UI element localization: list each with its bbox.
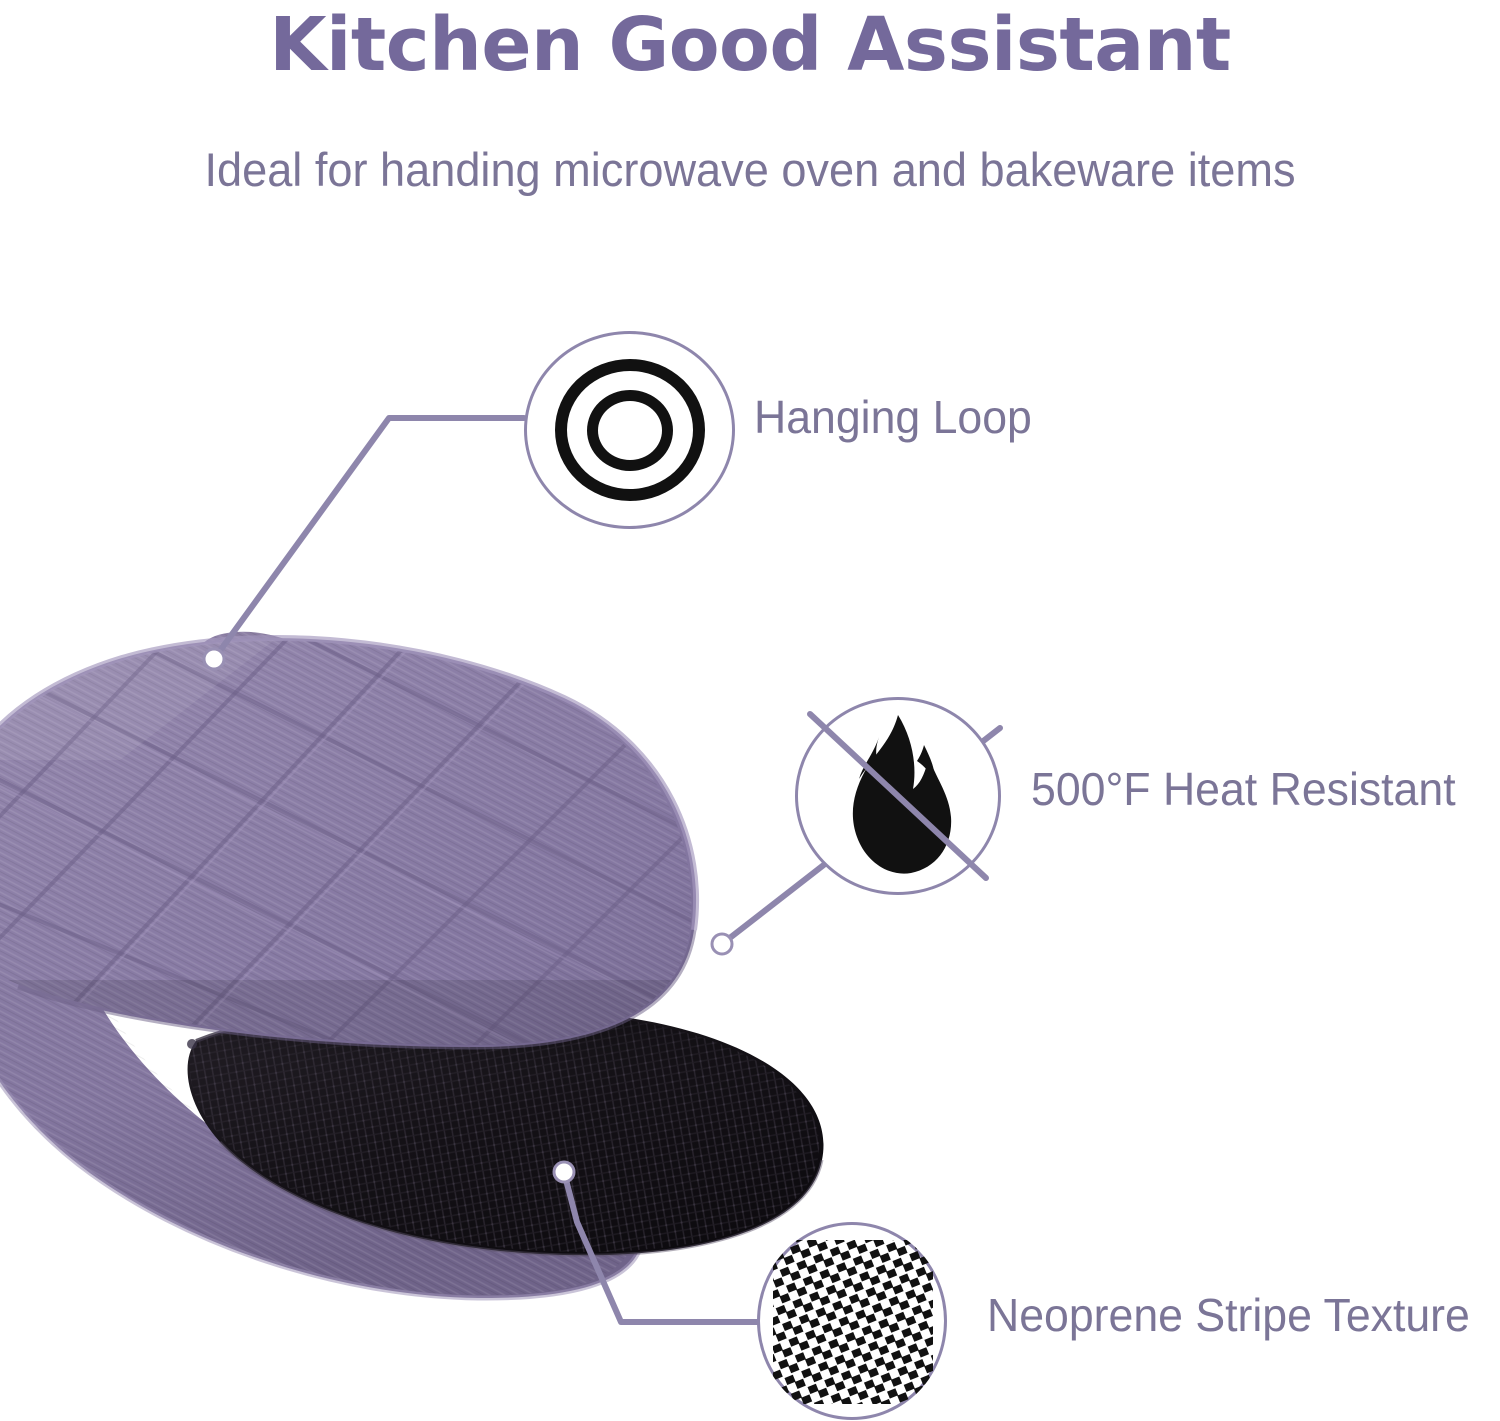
- mitt-shell: [0, 620, 760, 1080]
- product-infographic: Kitchen Good Assistant Ideal for handing…: [0, 0, 1500, 1421]
- mitt-cuff: [0, 850, 720, 1330]
- callout-label-hanging-loop: Hanging Loop: [754, 390, 1032, 444]
- concentric-rings-icon: [555, 359, 705, 501]
- anchor-dot-neoprene: [554, 1162, 574, 1182]
- hanging-loop-strap: [192, 632, 355, 724]
- anchor-dot-hanging-loop: [204, 649, 224, 669]
- callout-label-heat-resistant: 500°F Heat Resistant: [1031, 762, 1456, 816]
- page-title: Kitchen Good Assistant: [0, 2, 1500, 88]
- no-flame-icon: [795, 697, 1001, 895]
- leader-neoprene: [564, 1172, 758, 1322]
- page-subtitle: Ideal for handing microwave oven and bak…: [30, 142, 1470, 197]
- callout-label-neoprene-texture: Neoprene Stripe Texture: [987, 1288, 1470, 1342]
- callout-leader-lines: [0, 0, 1500, 1421]
- product-illustration: [0, 0, 1500, 1421]
- zigzag-texture-icon: [757, 1222, 947, 1420]
- anchor-dot-heat-resistant: [712, 934, 732, 954]
- leader-hanging-loop: [214, 418, 524, 659]
